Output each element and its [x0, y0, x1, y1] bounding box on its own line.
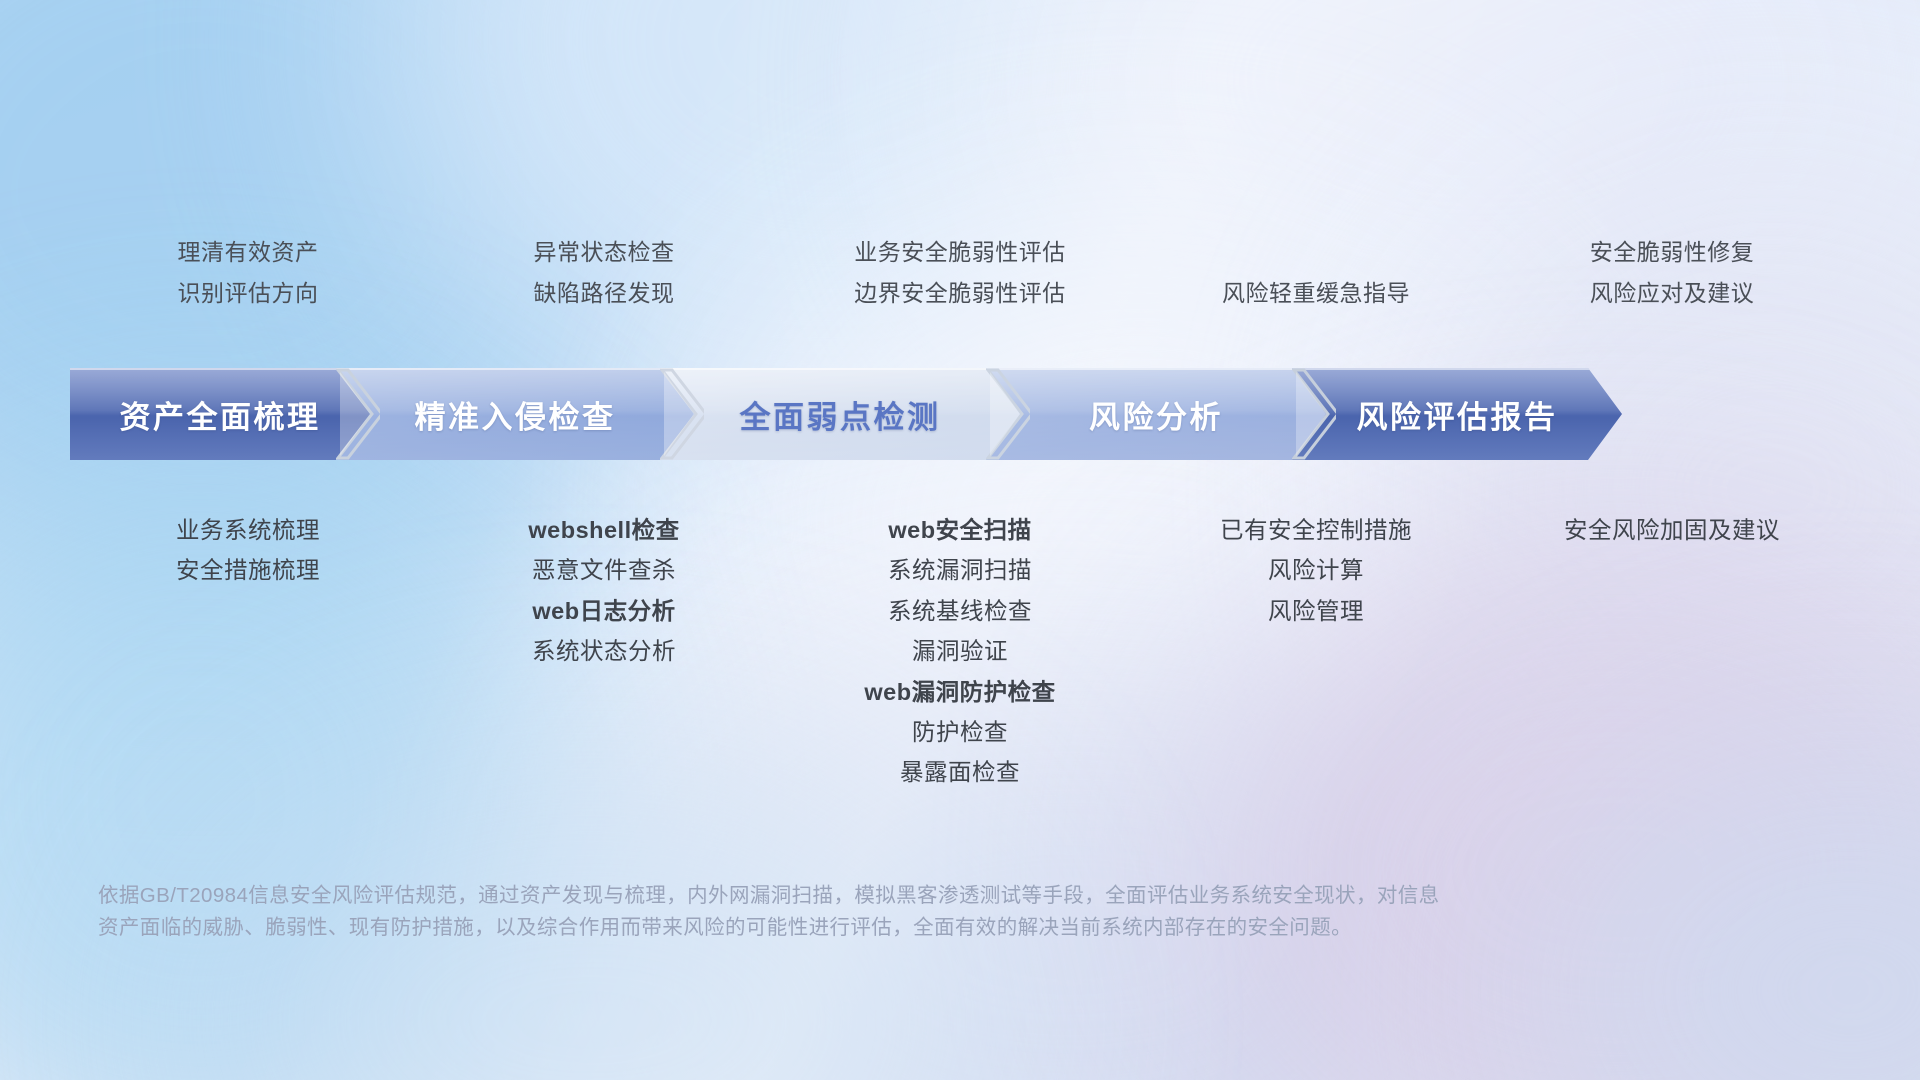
activity-item: 暴露面检查: [900, 752, 1020, 792]
chevron-highlight: [70, 368, 370, 370]
slide-canvas: 理清有效资产 识别评估方向 异常状态检查 缺陷路径发现 业务安全脆弱性评估 边界…: [0, 0, 1920, 1080]
activity-item: 风险计算: [1268, 550, 1364, 590]
chevron-highlight: [660, 368, 1020, 370]
activity-item: 业务系统梳理: [176, 510, 320, 550]
outcome-text: 业务安全脆弱性评估: [854, 232, 1066, 273]
stage-chevron-weakness-detection[interactable]: 全面弱点检测: [660, 368, 1020, 460]
outcome-text: 识别评估方向: [178, 273, 319, 314]
activities-row: 业务系统梳理 安全措施梳理 webshell检查 恶意文件查杀 web日志分析 …: [70, 510, 1850, 793]
outcome-text: 风险轻重缓急指导: [1222, 273, 1410, 314]
activity-column-assessment-report: 安全风险加固及建议: [1494, 510, 1850, 550]
footer-line-2: 资产面临的威胁、脆弱性、现有防护措施，以及综合作用而带来风险的可能性进行评估，全…: [98, 912, 1658, 944]
stage-title: 风险分析: [1089, 392, 1223, 437]
stage-title: 风险评估报告: [1357, 392, 1558, 437]
outcome-column-risk-analysis: 风险轻重缓急指导: [1138, 232, 1494, 314]
process-chevron-band: 资产全面梳理 精准入侵检查 全面弱点检测 风险分析 风险评估报告: [70, 368, 1852, 460]
stage-title: 全面弱点检测: [740, 392, 941, 437]
activity-item: 系统漏洞扫描: [888, 550, 1032, 590]
stage-title: 精准入侵检查: [415, 392, 616, 437]
activity-item: 已有安全控制措施: [1220, 510, 1412, 550]
stage-chevron-risk-analysis[interactable]: 风险分析: [986, 368, 1326, 460]
activity-item: 风险管理: [1268, 591, 1364, 631]
activity-item: web日志分析: [532, 591, 675, 631]
footer-line-1: 依据GB/T20984信息安全风险评估规范，通过资产发现与梳理，内外网漏洞扫描，…: [98, 880, 1658, 912]
chevron-highlight: [336, 368, 694, 370]
activity-column-weakness-detection: web安全扫描 系统漏洞扫描 系统基线检查 漏洞验证 web漏洞防护检查 防护检…: [782, 510, 1138, 793]
activity-item: web漏洞防护检查: [864, 672, 1055, 712]
activity-item: 防护检查: [912, 712, 1008, 752]
outcome-text: 缺陷路径发现: [534, 273, 675, 314]
stage-chevron-intrusion-check[interactable]: 精准入侵检查: [336, 368, 694, 460]
activity-column-risk-analysis: 已有安全控制措施 风险计算 风险管理: [1138, 510, 1494, 631]
outcome-column-intrusion-check: 异常状态检查 缺陷路径发现: [426, 232, 782, 314]
stage-chevron-asset-inventory[interactable]: 资产全面梳理: [70, 368, 370, 460]
stage-chevron-assessment-report[interactable]: 风险评估报告: [1292, 368, 1622, 460]
outcome-column-weakness-detection: 业务安全脆弱性评估 边界安全脆弱性评估: [782, 232, 1138, 314]
activity-item: 漏洞验证: [912, 631, 1008, 671]
stage-title: 资产全面梳理: [120, 392, 321, 437]
outcome-text: 异常状态检查: [534, 232, 675, 273]
footer-note: 依据GB/T20984信息安全风险评估规范，通过资产发现与梳理，内外网漏洞扫描，…: [98, 880, 1658, 945]
outcomes-row: 理清有效资产 识别评估方向 异常状态检查 缺陷路径发现 业务安全脆弱性评估 边界…: [70, 232, 1850, 314]
outcome-text: 风险应对及建议: [1590, 273, 1755, 314]
activity-item: webshell检查: [528, 510, 679, 550]
chevron-highlight: [986, 368, 1326, 370]
activity-item: 恶意文件查杀: [532, 550, 676, 590]
outcome-column-assessment-report: 安全脆弱性修复 风险应对及建议: [1494, 232, 1850, 314]
outcome-column-asset-inventory: 理清有效资产 识别评估方向: [70, 232, 426, 314]
activity-column-intrusion-check: webshell检查 恶意文件查杀 web日志分析 系统状态分析: [426, 510, 782, 672]
outcome-text: 理清有效资产: [178, 232, 319, 273]
chevron-highlight: [1292, 368, 1622, 370]
activity-item: 系统状态分析: [532, 631, 676, 671]
activity-item: web安全扫描: [888, 510, 1031, 550]
outcome-text: 边界安全脆弱性评估: [854, 273, 1066, 314]
activity-item: 安全措施梳理: [176, 550, 320, 590]
outcome-text: 安全脆弱性修复: [1590, 232, 1755, 273]
activity-item: 系统基线检查: [888, 591, 1032, 631]
activity-item: 安全风险加固及建议: [1564, 510, 1780, 550]
activity-column-asset-inventory: 业务系统梳理 安全措施梳理: [70, 510, 426, 591]
